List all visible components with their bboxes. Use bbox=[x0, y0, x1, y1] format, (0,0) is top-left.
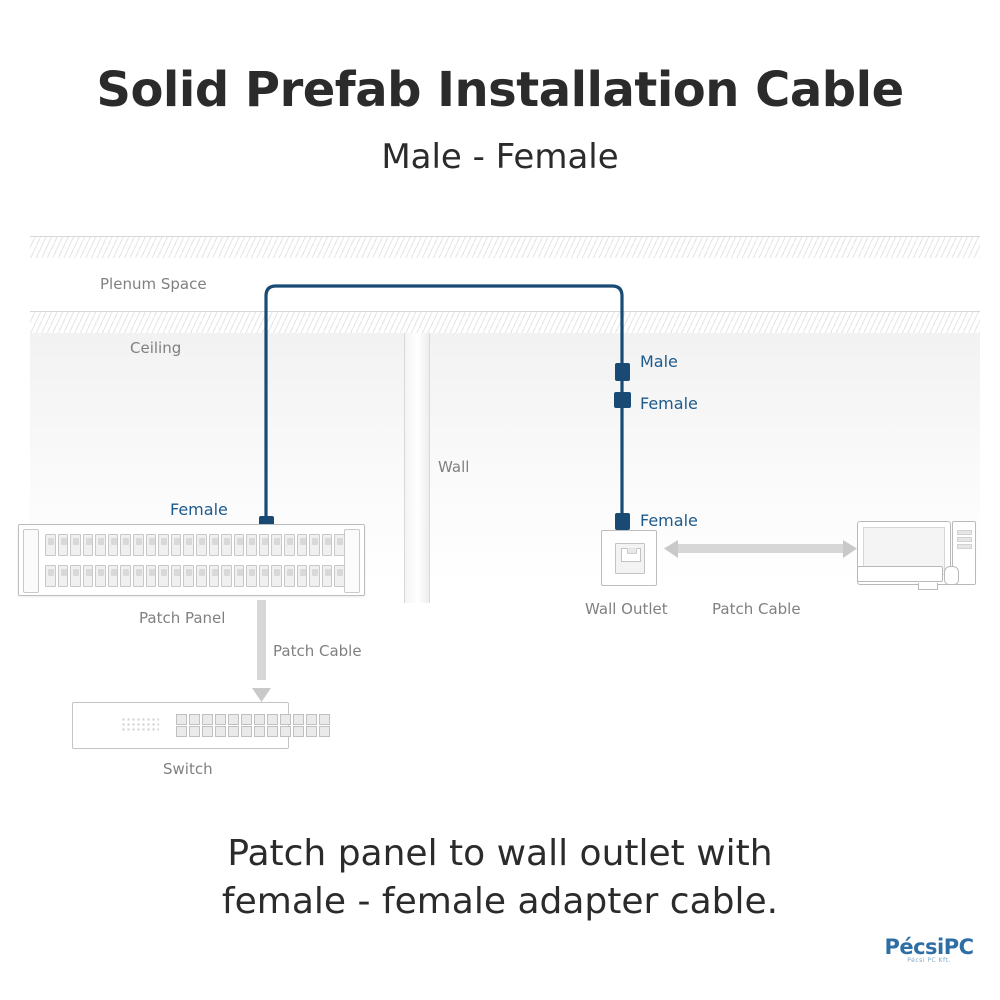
wall-outlet[interactable] bbox=[601, 530, 657, 586]
patch-panel-port[interactable] bbox=[297, 565, 308, 587]
plenum-bottom-slab bbox=[30, 311, 980, 335]
switch-port[interactable] bbox=[215, 714, 226, 725]
label-wall-outlet: Wall Outlet bbox=[585, 600, 668, 618]
switch-port[interactable] bbox=[176, 726, 187, 737]
patch-panel-port[interactable] bbox=[108, 565, 119, 587]
figure-caption: Patch panel to wall outlet with female -… bbox=[0, 830, 1000, 925]
connector-female-outlet bbox=[615, 513, 630, 530]
label-female-patch-panel: Female bbox=[170, 500, 228, 519]
patch-panel-port[interactable] bbox=[158, 534, 169, 556]
switch-port[interactable] bbox=[241, 714, 252, 725]
switch-port[interactable] bbox=[228, 714, 239, 725]
patch-panel-port[interactable] bbox=[246, 565, 257, 587]
connector-female-upper bbox=[614, 392, 631, 408]
patch-panel-port[interactable] bbox=[246, 534, 257, 556]
switch-port[interactable] bbox=[306, 726, 317, 737]
switch-port[interactable] bbox=[228, 726, 239, 737]
patch-panel-port[interactable] bbox=[45, 565, 56, 587]
patch-panel-port[interactable] bbox=[209, 534, 220, 556]
patch-panel-port[interactable] bbox=[120, 565, 131, 587]
keyboard bbox=[857, 566, 943, 582]
switch-port[interactable] bbox=[280, 726, 291, 737]
patch-panel-port[interactable] bbox=[271, 534, 282, 556]
switch-port-row-top bbox=[176, 714, 330, 725]
label-female-outlet: Female bbox=[640, 511, 698, 530]
patch-panel-port[interactable] bbox=[171, 565, 182, 587]
patch-panel-port[interactable] bbox=[95, 565, 106, 587]
patch-panel-port[interactable] bbox=[234, 534, 245, 556]
patch-panel-port[interactable] bbox=[171, 534, 182, 556]
patch-panel-port[interactable] bbox=[284, 565, 295, 587]
patch-panel-port[interactable] bbox=[146, 565, 157, 587]
patch-panel-port[interactable] bbox=[158, 565, 169, 587]
patch-panel-port[interactable] bbox=[259, 565, 270, 587]
patch-panel-port[interactable] bbox=[334, 534, 345, 556]
switch-port[interactable] bbox=[319, 726, 330, 737]
tower-drive-slot bbox=[957, 530, 972, 535]
tower-drive-slot bbox=[957, 537, 972, 542]
rj45-jack-icon bbox=[621, 548, 641, 562]
patch-panel-port[interactable] bbox=[322, 565, 333, 587]
label-patch-cable-right: Patch Cable bbox=[712, 600, 801, 618]
connector-male bbox=[615, 363, 630, 381]
patch-panel-port[interactable] bbox=[309, 534, 320, 556]
patch-panel-port[interactable] bbox=[120, 534, 131, 556]
patch-panel-port[interactable] bbox=[133, 534, 144, 556]
switch-port[interactable] bbox=[176, 714, 187, 725]
label-wall: Wall bbox=[438, 458, 469, 476]
switch-port[interactable] bbox=[280, 714, 291, 725]
patch-panel-port[interactable] bbox=[83, 565, 94, 587]
patch-panel-port[interactable] bbox=[196, 534, 207, 556]
plenum-top-slab bbox=[30, 236, 980, 260]
switch-port[interactable] bbox=[254, 714, 265, 725]
tower-drive-slot bbox=[957, 544, 972, 549]
label-patch-cable-left: Patch Cable bbox=[273, 642, 362, 660]
switch-port[interactable] bbox=[267, 714, 278, 725]
patch-panel-port[interactable] bbox=[70, 565, 81, 587]
monitor-stand bbox=[918, 583, 938, 590]
page-subtitle: Male - Female bbox=[0, 137, 1000, 177]
label-ceiling: Ceiling bbox=[130, 339, 181, 357]
patch-panel-port[interactable] bbox=[334, 565, 345, 587]
patch-panel-port[interactable] bbox=[221, 565, 232, 587]
caption-line-1: Patch panel to wall outlet with bbox=[0, 830, 1000, 878]
switch-led-array bbox=[121, 717, 159, 731]
patch-panel-port[interactable] bbox=[234, 565, 245, 587]
label-female-upper: Female bbox=[640, 394, 698, 413]
patch-panel-port[interactable] bbox=[209, 565, 220, 587]
patch-panel-port[interactable] bbox=[70, 534, 81, 556]
switch-port-row-bottom bbox=[176, 726, 330, 737]
patch-panel-port[interactable] bbox=[196, 565, 207, 587]
patch-panel-port[interactable] bbox=[309, 565, 320, 587]
label-male: Male bbox=[640, 352, 678, 371]
patch-panel-port[interactable] bbox=[58, 534, 69, 556]
label-patch-panel: Patch Panel bbox=[139, 609, 225, 627]
mouse bbox=[944, 566, 959, 585]
label-plenum-space: Plenum Space bbox=[100, 275, 207, 293]
patch-panel-port[interactable] bbox=[284, 534, 295, 556]
patch-panel-port[interactable] bbox=[183, 565, 194, 587]
label-switch: Switch bbox=[163, 760, 213, 778]
switch-port[interactable] bbox=[306, 714, 317, 725]
switch-port[interactable] bbox=[189, 714, 200, 725]
patch-panel-port[interactable] bbox=[221, 534, 232, 556]
logo-name: PécsiPC bbox=[874, 935, 984, 959]
patch-panel-port[interactable] bbox=[297, 534, 308, 556]
wall-outlet-faceplate bbox=[615, 543, 645, 574]
patch-panel-port[interactable] bbox=[133, 565, 144, 587]
patch-panel-port[interactable] bbox=[183, 534, 194, 556]
patch-panel-port[interactable] bbox=[83, 534, 94, 556]
switch-port[interactable] bbox=[215, 726, 226, 737]
patch-panel-port[interactable] bbox=[322, 534, 333, 556]
patch-panel-ear-left bbox=[23, 529, 39, 593]
switch-port[interactable] bbox=[202, 726, 213, 737]
patch-panel-port[interactable] bbox=[58, 565, 69, 587]
patch-panel-port[interactable] bbox=[271, 565, 282, 587]
switch-port[interactable] bbox=[241, 726, 252, 737]
patch-panel-port[interactable] bbox=[45, 534, 56, 556]
patch-panel-port[interactable] bbox=[108, 534, 119, 556]
brand-logo: PécsiPC Pécsi PC Kft. bbox=[874, 935, 984, 964]
patch-panel-port-row-bottom bbox=[45, 565, 345, 585]
network-switch[interactable] bbox=[72, 702, 289, 749]
switch-port[interactable] bbox=[202, 714, 213, 725]
patch-panel-port[interactable] bbox=[146, 534, 157, 556]
wall-structure bbox=[404, 333, 430, 603]
switch-port[interactable] bbox=[293, 726, 304, 737]
patch-panel-port[interactable] bbox=[95, 534, 106, 556]
caption-line-2: female - female adapter cable. bbox=[0, 878, 1000, 926]
switch-port[interactable] bbox=[293, 714, 304, 725]
switch-port[interactable] bbox=[189, 726, 200, 737]
switch-port[interactable] bbox=[319, 714, 330, 725]
switch-port[interactable] bbox=[254, 726, 265, 737]
patch-cable-left-arrow bbox=[252, 578, 271, 702]
patch-panel[interactable] bbox=[18, 524, 365, 596]
patch-panel-port[interactable] bbox=[259, 534, 270, 556]
patch-panel-port-row-top bbox=[45, 534, 345, 554]
patch-panel-ear-right bbox=[344, 529, 360, 593]
switch-port[interactable] bbox=[267, 726, 278, 737]
page-title: Solid Prefab Installation Cable bbox=[0, 62, 1000, 118]
